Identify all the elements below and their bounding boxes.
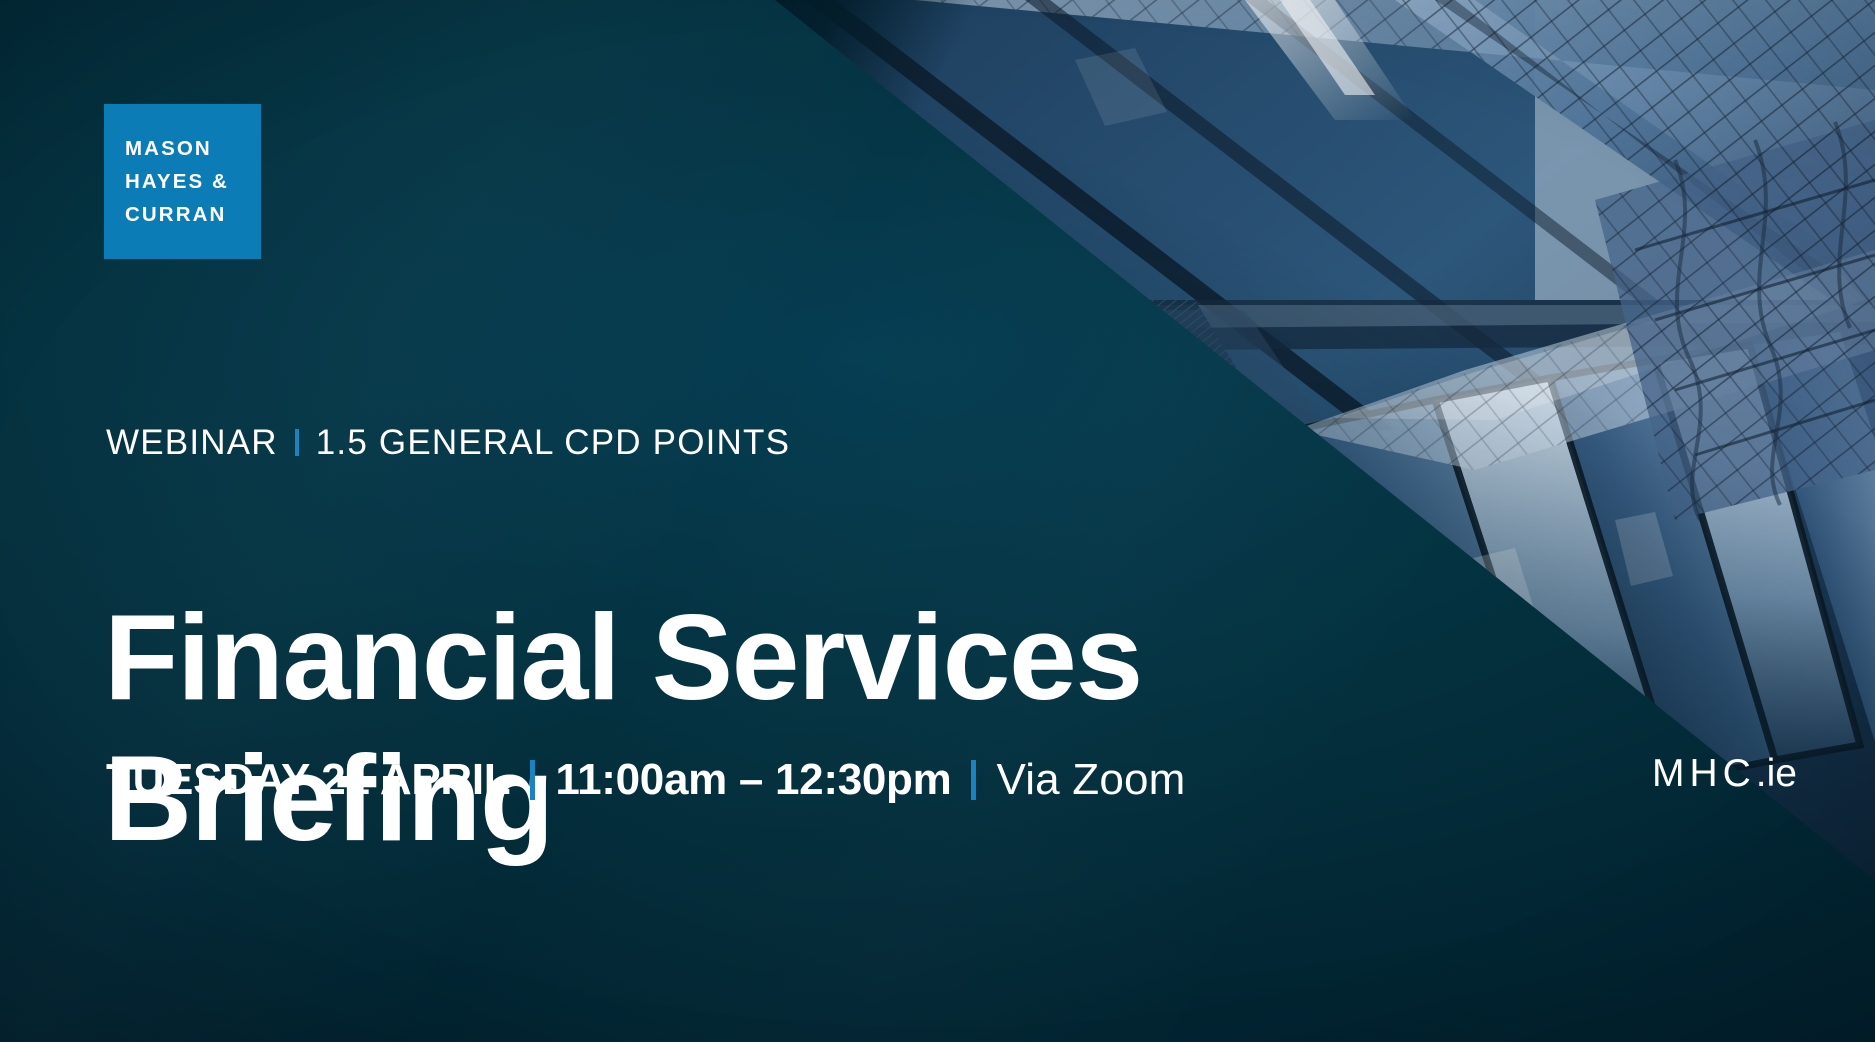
background-vignette xyxy=(0,0,1875,1042)
logo-line-1: MASON xyxy=(125,132,261,165)
event-banner: MASON HAYES & CURRAN WEBINAR 1.5 GENERAL… xyxy=(0,0,1875,1042)
footer-separator-icon-2 xyxy=(971,760,976,800)
cpd-points-label: 1.5 GENERAL CPD POINTS xyxy=(316,425,790,460)
wordmark-initials: MHC xyxy=(1652,752,1756,796)
page-title: Financial Services Briefing xyxy=(104,587,1142,870)
event-location: Via Zoom xyxy=(996,758,1185,802)
eyebrow-line: WEBINAR 1.5 GENERAL CPD POINTS xyxy=(106,425,790,460)
logo-line-3: CURRAN xyxy=(125,198,261,231)
footer-separator-icon-1 xyxy=(530,760,535,800)
wordmark-tld: .ie xyxy=(1756,752,1797,796)
mhc-website-wordmark[interactable]: MHC .ie xyxy=(1652,752,1797,796)
eyebrow-separator-icon xyxy=(295,429,299,456)
event-time: 11:00am – 12:30pm xyxy=(555,758,951,802)
headline-line-1: Financial Services xyxy=(104,587,1142,729)
event-type-label: WEBINAR xyxy=(106,425,278,460)
mason-hayes-curran-logo[interactable]: MASON HAYES & CURRAN xyxy=(104,104,261,259)
event-details: TUESDAY 21 APRIL 11:00am – 12:30pm Via Z… xyxy=(106,758,1186,802)
event-date: TUESDAY 21 APRIL xyxy=(106,758,510,802)
logo-line-2: HAYES & xyxy=(125,165,261,198)
